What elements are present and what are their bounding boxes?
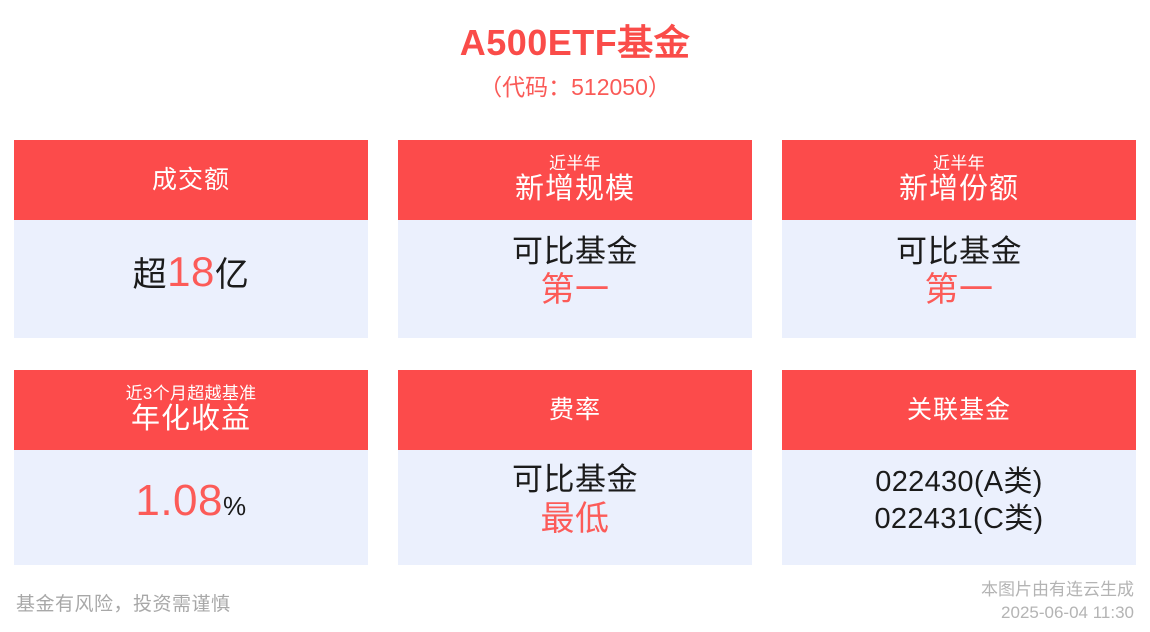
annualized-return-value: 1.08% [135, 476, 246, 525]
fund-code-subtitle: （代码：512050） [0, 74, 1150, 102]
card-sublabel: 近3个月超越基准 [126, 385, 257, 403]
generator-credit: 本图片由有连云生成 2025-06-04 11:30 [981, 579, 1134, 625]
turnover-suffix: 亿 [215, 256, 250, 294]
card-label: 费率 [549, 397, 601, 424]
card-body-fee-rate: 可比基金 最低 [398, 450, 752, 565]
stat-card-fee-rate[interactable]: 费率 可比基金 最低 [398, 370, 752, 565]
stat-card-new-scale[interactable]: 近半年 新增规模 可比基金 第一 [398, 140, 752, 338]
stat-card-new-shares[interactable]: 近半年 新增份额 可比基金 第一 [782, 140, 1136, 338]
related-fund-code-a: 022430(A类) [875, 464, 1042, 500]
stat-card-turnover[interactable]: 成交额 超18亿 [14, 140, 368, 338]
card-body-related-funds: 022430(A类) 022431(C类) [782, 450, 1136, 565]
card-header-turnover: 成交额 [14, 140, 368, 220]
turnover-value: 超18亿 [133, 248, 250, 295]
card-body-turnover: 超18亿 [14, 220, 368, 338]
card-header-new-shares: 近半年 新增份额 [782, 140, 1136, 220]
related-fund-code-c: 022431(C类) [874, 501, 1043, 537]
card-header-related-funds: 关联基金 [782, 370, 1136, 450]
generator-source: 本图片由有连云生成 [981, 579, 1134, 602]
stat-card-annualized-return[interactable]: 近3个月超越基准 年化收益 1.08% [14, 370, 368, 565]
generator-timestamp: 2025-06-04 11:30 [981, 602, 1134, 625]
card-header-fee-rate: 费率 [398, 370, 752, 450]
fee-rate-peer-label: 可比基金 [512, 463, 638, 498]
card-label: 新增份额 [899, 174, 1019, 205]
card-sublabel: 近半年 [933, 155, 985, 173]
annualized-return-number: 1.08 [135, 476, 223, 525]
new-scale-rank: 第一 [541, 271, 610, 309]
new-shares-peer-label: 可比基金 [896, 235, 1022, 270]
risk-disclaimer: 基金有风险，投资需谨慎 [16, 589, 231, 616]
new-shares-rank: 第一 [925, 271, 994, 309]
card-header-new-scale: 近半年 新增规模 [398, 140, 752, 220]
card-body-new-scale: 可比基金 第一 [398, 220, 752, 338]
turnover-prefix: 超 [133, 256, 168, 294]
page-title: A500ETF基金 [0, 22, 1150, 63]
percent-unit: % [223, 491, 247, 521]
card-header-annualized-return: 近3个月超越基准 年化收益 [14, 370, 368, 450]
turnover-number: 18 [167, 248, 215, 295]
stat-card-related-funds[interactable]: 关联基金 022430(A类) 022431(C类) [782, 370, 1136, 565]
page-header: A500ETF基金 （代码：512050） [0, 0, 1150, 102]
card-label: 成交额 [152, 167, 230, 194]
stat-card-grid: 成交额 超18亿 近半年 新增规模 可比基金 第一 近半年 新增份额 可比基金 … [14, 140, 1136, 565]
page-footer: 基金有风险，投资需谨慎 本图片由有连云生成 2025-06-04 11:30 [0, 572, 1150, 632]
card-body-new-shares: 可比基金 第一 [782, 220, 1136, 338]
card-label: 关联基金 [907, 397, 1011, 424]
card-sublabel: 近半年 [549, 155, 601, 173]
fee-rate-rank: 最低 [541, 500, 610, 538]
new-scale-peer-label: 可比基金 [512, 235, 638, 270]
card-label: 新增规模 [515, 174, 635, 205]
card-body-annualized-return: 1.08% [14, 450, 368, 565]
card-label: 年化收益 [131, 404, 251, 435]
